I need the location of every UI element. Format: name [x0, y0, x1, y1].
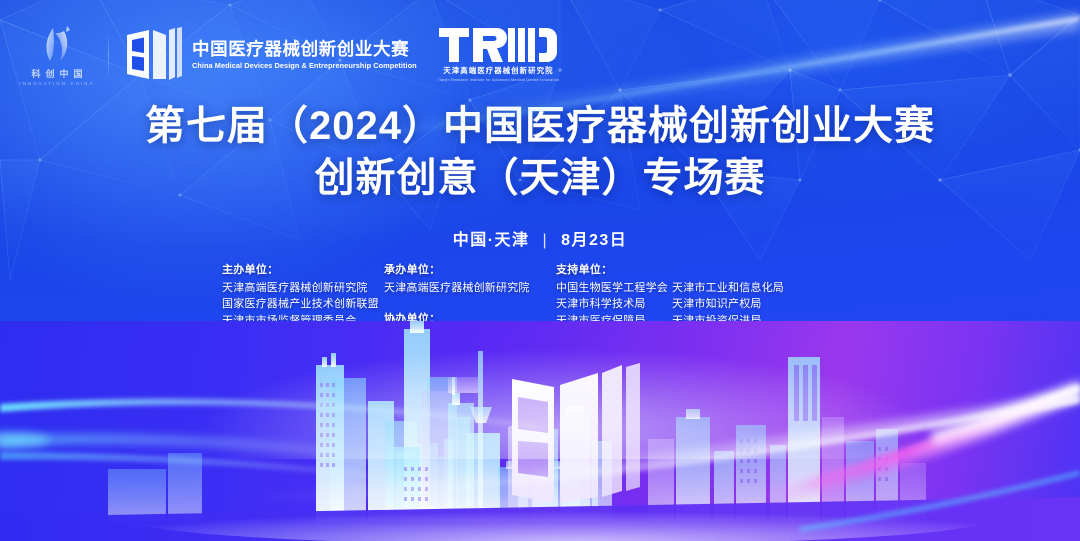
event-date: 8月23日 [561, 232, 627, 249]
event-title: 第七届（2024）中国医疗器械创新创业大赛 创新创意（天津）专场赛 [0, 104, 1080, 201]
supporter-item: 天津市科学技术局 [556, 296, 672, 313]
scene-haze [0, 329, 1080, 459]
organizer-heading: 承办单位： [384, 262, 556, 279]
competition-name-en: China Medical Devices Design & Entrepren… [192, 61, 417, 70]
trmd-wordmark-icon [439, 28, 557, 62]
supporter-item: 中国生物医学工程学会 [556, 280, 672, 297]
innovation-china-cn: 科创中国 [26, 67, 87, 80]
date-separator: | [542, 232, 548, 250]
innovation-china-en: INNOVATION CHINA [19, 81, 94, 86]
competition-name-cn: 中国医疗器械创新创业大赛 [192, 40, 424, 59]
title-line-1: 第七届（2024）中国医疗器械创新创业大赛 [0, 104, 1080, 150]
host-item: 国家医疗器械产业技术创新联盟 [222, 296, 384, 313]
logo-bar: 科创中国 INNOVATION CHINA 中国医疗器械创新创业大赛 China… [22, 24, 559, 86]
column-spacer [384, 296, 556, 311]
trmd-name-cn: 天津高端医疗器械创新研究院 [443, 65, 553, 76]
event-datetime-location: 中国·天津 | 8月23日 [0, 226, 1080, 250]
innovation-china-bird-icon [36, 24, 80, 66]
logo-competition: 中国医疗器械创新创业大赛 China Medical Devices Desig… [125, 27, 424, 83]
event-banner: 科创中国 INNOVATION CHINA 中国医疗器械创新创业大赛 China… [0, 0, 1080, 541]
host-item: 天津高端医疗器械创新研究院 [222, 280, 384, 297]
trmd-name-en: Tianjin Research Institute for Advanced … [438, 78, 560, 82]
supporter-item: 天津市工业和信息化局 [672, 280, 872, 297]
open-book-door-icon [125, 27, 183, 83]
title-line-2: 创新创意（天津）专场赛 [0, 156, 1080, 202]
logo-innovation-china: 科创中国 INNOVATION CHINA [22, 24, 92, 86]
supporter-heading: 支持单位： [556, 262, 872, 279]
event-location: 中国·天津 [453, 232, 530, 249]
logo-trmd: 天津高端医疗器械创新研究院 Tianjin Research Institute… [438, 28, 560, 82]
organizer-item: 天津高端医疗器械创新研究院 [384, 280, 556, 297]
city-skyline-scene [0, 321, 1080, 541]
supporter-item: 天津市知识产权局 [672, 296, 872, 313]
host-heading: 主办单位： [222, 262, 384, 279]
logo-divider [108, 32, 109, 78]
